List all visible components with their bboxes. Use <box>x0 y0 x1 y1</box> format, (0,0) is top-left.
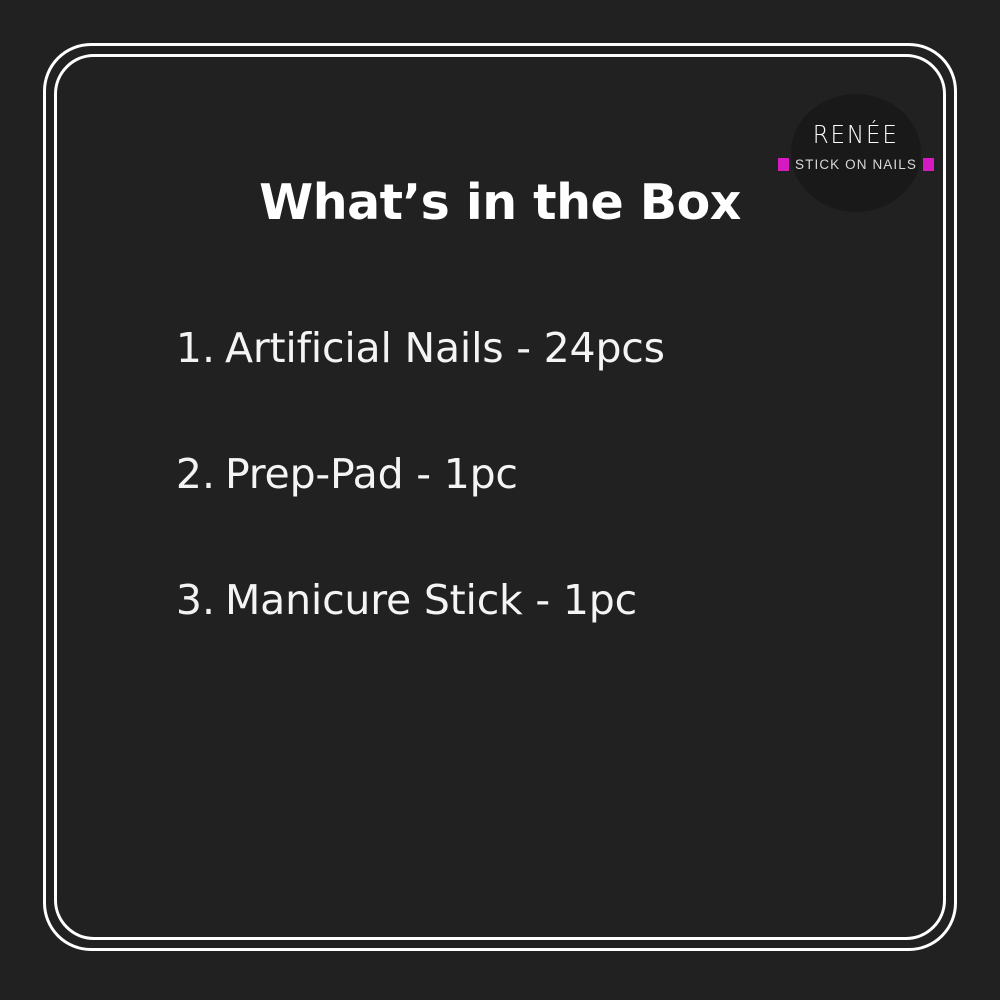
box-contents-list: 1. Artificial Nails - 24pcs 2. Prep-Pad … <box>160 328 860 706</box>
list-item: 1. Artificial Nails - 24pcs <box>160 328 860 454</box>
list-item: 2. Prep-Pad - 1pc <box>160 454 860 580</box>
brand-tagline: STICK ON NAILS <box>795 158 917 172</box>
list-item-label: Prep-Pad - 1pc <box>225 454 518 495</box>
page-title: What’s in the Box <box>0 174 1000 233</box>
magenta-square-icon-left <box>778 158 789 171</box>
list-item-number: 1. <box>160 328 215 369</box>
magenta-square-icon-right <box>923 158 934 171</box>
list-item: 3. Manicure Stick - 1pc <box>160 580 860 706</box>
list-item-label: Artificial Nails - 24pcs <box>225 328 665 369</box>
list-item-label: Manicure Stick - 1pc <box>225 580 637 621</box>
list-item-number: 2. <box>160 454 215 495</box>
promo-card: RENÉE STICK ON NAILS What’s in the Box 1… <box>0 0 1000 1000</box>
brand-wordmark: RENÉE <box>813 122 899 147</box>
brand-tagline-row: STICK ON NAILS <box>778 158 934 172</box>
list-item-number: 3. <box>160 580 215 621</box>
